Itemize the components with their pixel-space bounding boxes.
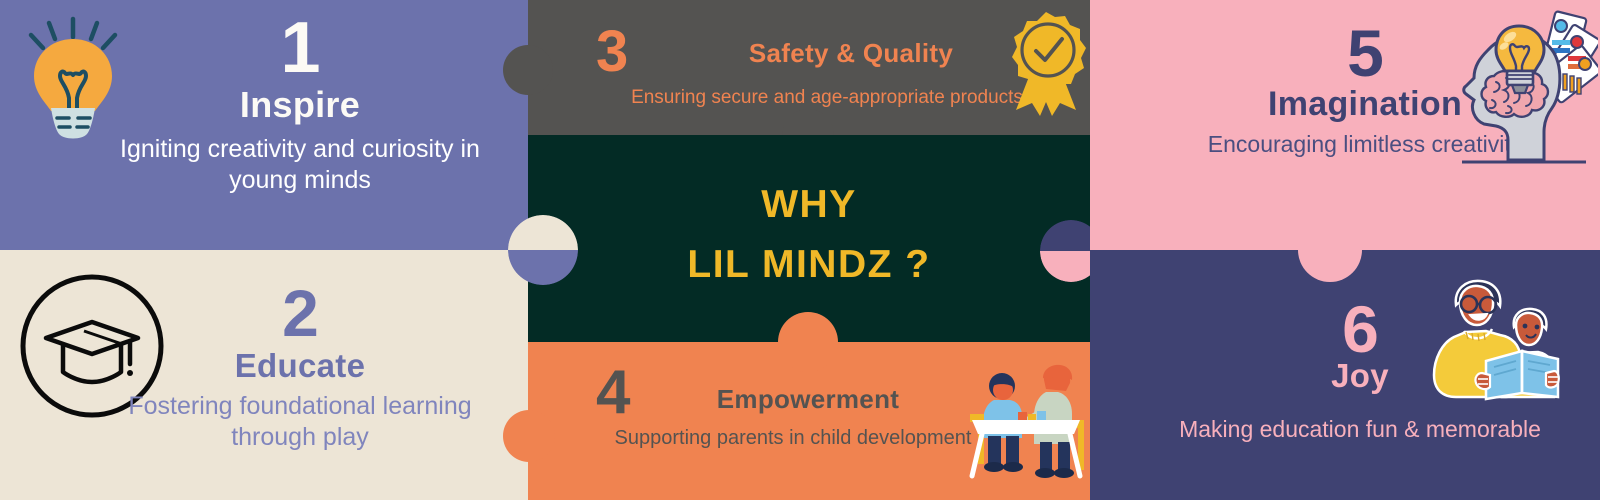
panel-description: Fostering foundational learning through … [100,391,500,452]
panel-educate-text: 2 Educate Fostering foundational learnin… [100,282,500,452]
puzzle-knob-p5-bottom [1298,218,1362,282]
panel-number: 2 [100,282,500,345]
panel-title: Inspire [100,86,500,124]
parent-child-table-icon [966,358,1086,483]
puzzle-knob-p4-left [503,410,555,462]
center-heading: WHY LIL MINDZ ? [528,175,1090,296]
panel-description: Making education fun & memorable [1160,415,1560,443]
puzzle-infographic: 1 Inspire Igniting creativity and curios… [0,0,1600,500]
panel-title: Educate [100,349,500,384]
panel-joy[interactable]: 6 Joy Making education fun & memorable [1090,250,1600,500]
panel-description: Ensuring secure and age-appropriate prod… [612,86,1042,109]
panel-title: Safety & Quality [676,40,1026,67]
panel-center-why[interactable]: WHY LIL MINDZ ? [528,135,1090,342]
center-heading-line1: WHY [528,175,1090,235]
panel-number: 1 [100,14,500,82]
parent-child-reading-icon [1420,275,1560,410]
center-heading-line2: LIL MINDZ ? [528,235,1090,295]
panel-number: 3 [596,24,627,79]
panel-title: Empowerment [638,386,978,413]
puzzle-knob-p4-top [778,312,838,372]
panel-description: Igniting creativity and curiosity in you… [100,134,500,195]
brain-head-lightbulb-icon [1430,2,1598,167]
panel-number: 4 [596,364,629,423]
panel-inspire[interactable]: 1 Inspire Igniting creativity and curios… [0,0,528,250]
panel-inspire-text: 1 Inspire Igniting creativity and curios… [100,14,500,195]
panel-description: Supporting parents in child development [568,426,1018,450]
panel-safety-quality[interactable]: 3 Safety & Quality Ensuring secure and a… [528,0,1090,135]
puzzle-knob-center-left [508,215,578,285]
panel-imagination[interactable]: 5 Imagination Encouraging limitless crea… [1090,0,1600,250]
panel-empowerment[interactable]: 4 Empowerment Supporting parents in chil… [528,342,1090,500]
award-ribbon-icon [1000,6,1092,118]
puzzle-knob-p3-left [503,45,553,95]
panel-educate[interactable]: 2 Educate Fostering foundational learnin… [0,250,528,500]
